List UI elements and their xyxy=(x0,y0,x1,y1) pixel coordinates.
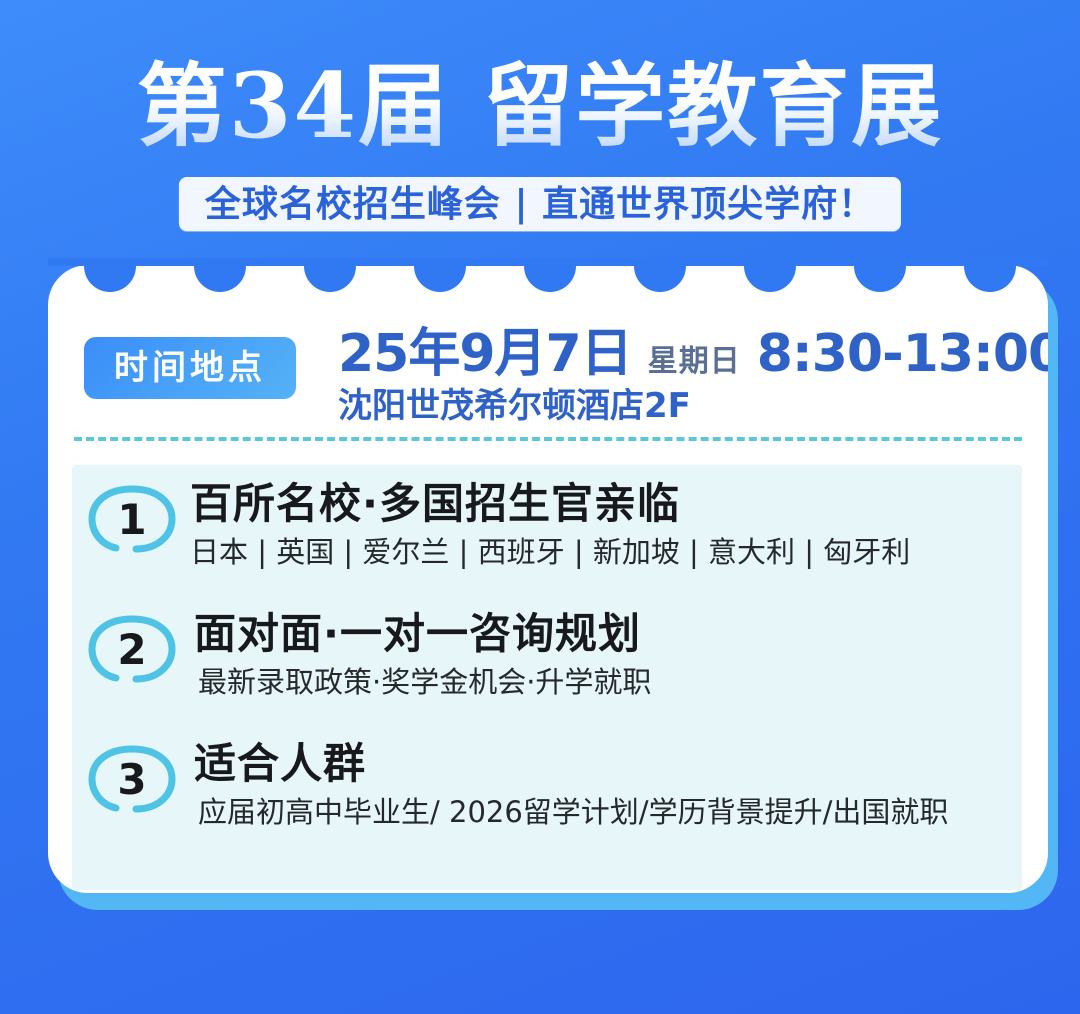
date-time-line: 25年9月7日 星期日 8:30-13:00 xyxy=(338,325,1038,383)
feature-3-subtitle: 应届初高中毕业生/ 2026留学计划/学历背景提升/出国就职 xyxy=(194,791,1024,833)
feature-2-text: 面对面·一对一咨询规划 最新录取政策·奖学金机会·升学就职 xyxy=(194,607,1024,703)
feature-3-text: 适合人群 应届初高中毕业生/ 2026留学计划/学历背景提升/出国就职 xyxy=(194,737,1024,833)
time-place-badge: 时间地点 xyxy=(84,337,296,399)
page-title: 第34届 留学教育展 xyxy=(0,50,1080,162)
feature-number-2: 2 xyxy=(86,611,178,687)
feature-number-1: 1 xyxy=(86,481,178,557)
poster-root: 第34届 留学教育展 全球名校招生峰会 | 直通世界顶尖学府！ 时间地点 25年… xyxy=(0,0,1080,1014)
event-venue: 沈阳世茂希尔顿酒店2F xyxy=(338,385,1038,427)
feature-3-title: 适合人群 xyxy=(194,737,1024,791)
poster-header: 第34届 留学教育展 全球名校招生峰会 | 直通世界顶尖学府！ xyxy=(0,0,1080,258)
circle-number-3-icon: 3 xyxy=(86,741,178,817)
time-place-row: 时间地点 25年9月7日 星期日 8:30-13:00 沈阳世茂希尔顿酒店2F xyxy=(48,325,1048,455)
info-card: 时间地点 25年9月7日 星期日 8:30-13:00 沈阳世茂希尔顿酒店2F xyxy=(48,265,1048,893)
feature-1-subtitle: 日本 | 英国 | 爱尔兰 | 西班牙 | 新加坡 | 意大利 | 匈牙利 xyxy=(190,531,1020,573)
dashed-divider xyxy=(74,437,1022,441)
circle-number-1-icon: 1 xyxy=(86,481,178,557)
feature-number-3: 3 xyxy=(86,741,178,817)
event-time-range: 8:30-13:00 xyxy=(757,325,1048,383)
subtitle-text: 全球名校招生峰会 | 直通世界顶尖学府！ xyxy=(205,184,875,224)
feature-1-text: 百所名校·多国招生官亲临 日本 | 英国 | 爱尔兰 | 西班牙 | 新加坡 |… xyxy=(190,477,1020,573)
feature-2-title: 面对面·一对一咨询规划 xyxy=(194,607,1024,661)
circle-number-2-icon: 2 xyxy=(86,611,178,687)
event-date: 25年9月7日 xyxy=(338,325,632,383)
subtitle-bar: 全球名校招生峰会 | 直通世界顶尖学府！ xyxy=(179,177,901,231)
features-panel: 1 百所名校·多国招生官亲临 日本 | 英国 | 爱尔兰 | 西班牙 | 新加坡… xyxy=(72,465,1022,890)
feature-1-title: 百所名校·多国招生官亲临 xyxy=(190,477,1020,531)
time-place-details: 25年9月7日 星期日 8:30-13:00 沈阳世茂希尔顿酒店2F xyxy=(338,325,1038,427)
event-weekday: 星期日 xyxy=(648,345,741,379)
time-place-badge-label: 时间地点 xyxy=(114,350,266,386)
feature-2-subtitle: 最新录取政策·奖学金机会·升学就职 xyxy=(194,661,1024,703)
